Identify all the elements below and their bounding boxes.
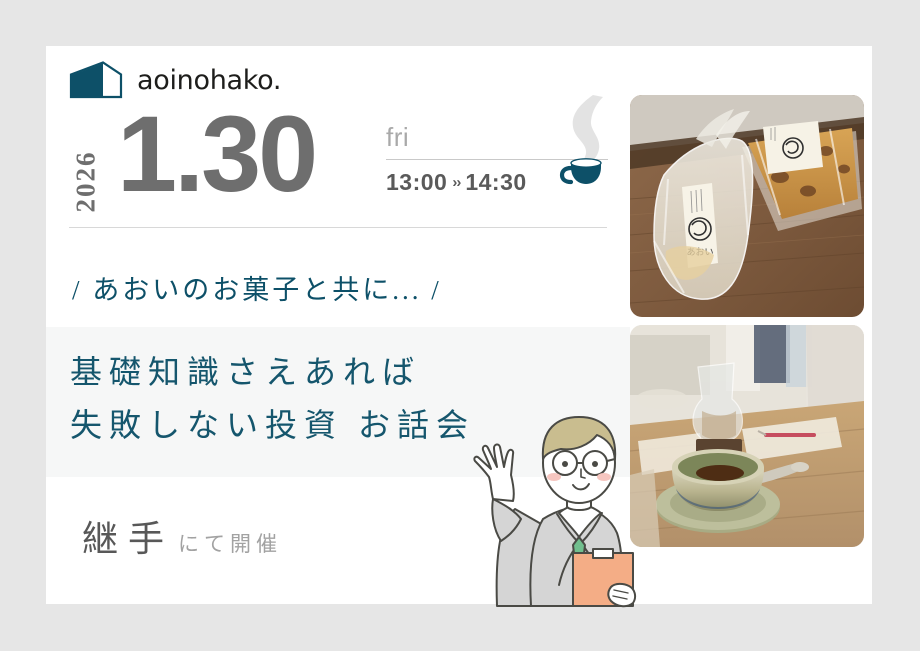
- venue-name: 継手: [82, 519, 174, 559]
- time-arrow-icon: ››: [452, 174, 460, 191]
- venue: 継手にて開催: [82, 510, 282, 562]
- coffee-cup-icon: [541, 91, 631, 196]
- flyer-left-column: aoinohako. 2026 1.30 fri 13:00››14:30: [46, 46, 630, 604]
- brand-name: aoinohako.: [137, 65, 281, 96]
- presenter-illustration: [471, 401, 641, 611]
- headline-line-1: 基礎知識さえあれば: [70, 354, 421, 390]
- steam-icon: [573, 95, 603, 167]
- headline: 基礎知識さえあれば 失敗しない投資 お話会: [70, 346, 475, 452]
- house-box-logo-icon: [69, 61, 123, 99]
- coffee-cup-illustration: [541, 91, 631, 196]
- photo-seminar-table-image: [630, 325, 864, 547]
- section-divider: [69, 227, 607, 228]
- photo-seminar-table: [630, 325, 864, 547]
- headline-line-2: 失敗しない投資 お話会: [70, 399, 475, 452]
- event-year: 2026: [71, 151, 102, 213]
- tagline: / あおいのお菓子と共に... /: [72, 268, 442, 307]
- event-end-time: 14:30: [465, 169, 526, 195]
- presenter-icon: [471, 401, 641, 611]
- venue-suffix: にて開催: [178, 532, 282, 556]
- photo-baked-goods: あおい: [630, 95, 864, 317]
- photo-baked-goods-image: あおい: [630, 95, 864, 317]
- event-day: 1.30: [117, 100, 315, 208]
- event-start-time: 13:00: [386, 169, 447, 195]
- flyer-root: aoinohako. 2026 1.30 fri 13:00››14:30: [0, 0, 920, 651]
- flyer-card: aoinohako. 2026 1.30 fri 13:00››14:30: [46, 46, 872, 604]
